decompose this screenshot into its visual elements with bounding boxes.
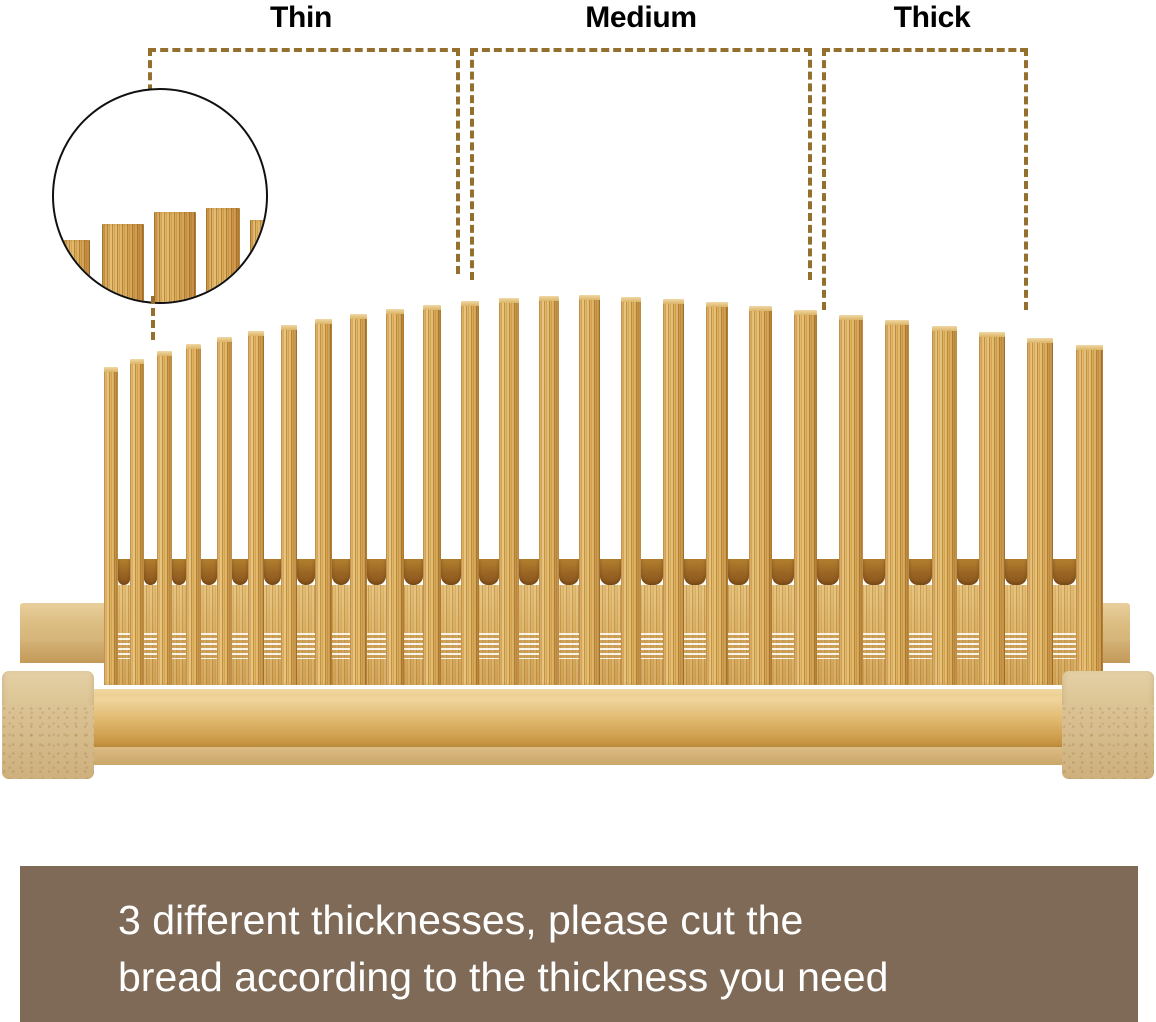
slot-grain-lines [909,633,931,659]
slat [386,309,404,685]
slat [839,315,863,685]
slot-grain-lines [479,633,499,659]
slot-bottom [441,559,461,585]
slot-bottom [600,559,621,585]
slot-bottom [909,559,931,585]
slot-grain-lines [367,633,386,659]
magnifier-circle-icon [52,88,268,304]
slot-grain-lines [519,633,539,659]
slot-grain-lines [1053,633,1076,659]
slot-bottom [264,559,281,585]
infographic-page: Thin Medium Thick 3 different thicknesse [0,0,1156,1022]
slat [885,320,909,685]
slot-bottom [367,559,386,585]
slot-grain-lines [232,633,248,659]
slot-bottom [332,559,350,585]
slot-bottom [144,559,157,585]
slot-bottom [641,559,662,585]
slot-bottom [479,559,499,585]
slot-grain-lines [201,633,217,659]
slot-bottom [728,559,750,585]
slot-bottom [172,559,187,585]
slat [706,302,728,685]
slot-grain-lines [957,633,979,659]
slot-grain-lines [264,633,281,659]
cutting-board-front-lip [36,747,1106,765]
slat [217,337,232,685]
slot-bottom [297,559,315,585]
right-foot-block [1062,671,1154,779]
slot-grain-lines [600,633,621,659]
slot-grain-lines [404,633,423,659]
slot-grain-lines [441,633,461,659]
slat [579,295,599,685]
bamboo-bread-slicer [0,285,1156,805]
slot-bottom [559,559,580,585]
slat [423,305,441,685]
slat [979,332,1005,685]
caption-line-2: bread according to the thickness you nee… [118,949,1138,1006]
slot-bottom [684,559,705,585]
slat [663,299,684,685]
slat [248,331,264,685]
caption-line-1: 3 different thicknesses, please cut the [118,892,1138,949]
slot-grain-lines [1005,633,1027,659]
slat [281,325,297,685]
slat [794,310,817,685]
slot-bottom [519,559,539,585]
slot-bottom [404,559,423,585]
slat [749,306,772,685]
slot-grain-lines [817,633,839,659]
slot-bottom [1005,559,1027,585]
slat [315,319,332,685]
front-rounded-rail [64,689,1092,751]
slot-bottom [232,559,248,585]
slot-grain-lines [297,633,315,659]
slot-grain-lines [332,633,350,659]
slat [130,359,144,685]
tier-label-thin: Thin [270,0,332,38]
slot-bottom [817,559,839,585]
slot-grain-lines [863,633,885,659]
slot-grain-lines [641,633,662,659]
slot-bottom [772,559,794,585]
slot-bottom [1053,559,1076,585]
slot-bottom [118,559,130,585]
slat [461,301,480,685]
slat [350,314,367,685]
slot-grain-lines [728,633,750,659]
foot-end-grain [2,705,94,779]
slat [932,326,957,685]
slat-group [0,285,1156,705]
slat [499,298,518,685]
slat [157,351,172,685]
slot-grain-lines [172,633,187,659]
slot-grain-lines [144,633,157,659]
slot-bottom [957,559,979,585]
left-foot-block [2,671,94,779]
slat [1076,345,1103,685]
slat [539,296,559,685]
slat [621,297,642,685]
slot-grain-lines [684,633,705,659]
slot-bottom [201,559,217,585]
slat [104,367,118,685]
slot-grain-lines [559,633,580,659]
foot-end-grain [1062,705,1154,779]
slot-bottom [863,559,885,585]
caption-banner: 3 different thicknesses, please cut the … [20,866,1138,1022]
tier-label-medium: Medium [585,0,697,38]
magnified-slot-detail [54,90,266,302]
tier-label-thick: Thick [894,0,971,38]
bracket-medium-icon [470,48,812,280]
slat [186,344,201,685]
slot-grain-lines [118,633,130,659]
slot-grain-lines [772,633,794,659]
slat [1027,338,1053,685]
bracket-thick-icon [822,48,1028,310]
